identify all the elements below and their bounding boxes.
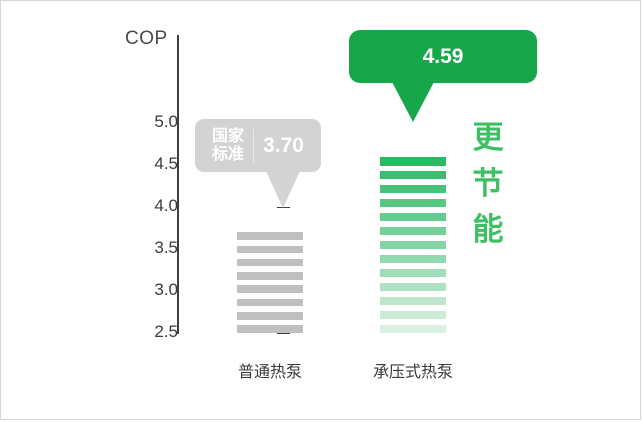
highlight-value: 4.59 (423, 45, 464, 69)
bar-segment (380, 241, 446, 249)
standard-callout-tail (266, 171, 300, 208)
more-efficient-note: 更 节 能 (467, 115, 509, 253)
x-label-pressurized-heat-pump: 承压式热泵 (344, 358, 482, 382)
x-label-ordinary-heat-pump: 普通热泵 (201, 358, 339, 382)
bar-segment (237, 285, 303, 293)
bar-segment (237, 232, 303, 240)
bar-segment (380, 325, 446, 333)
y-tick-label: 2.5 (134, 322, 178, 342)
y-tick-label: 4.5 (134, 154, 178, 174)
highlight-callout: 4.59 (349, 30, 537, 83)
bar-segment (237, 272, 303, 280)
bar-segment (380, 157, 446, 165)
y-axis-title: COP (125, 28, 168, 50)
bar-segment (380, 255, 446, 263)
national-standard-label: 国家 标准 (212, 128, 244, 164)
bar-segment (237, 246, 303, 254)
y-tick-label: 3.5 (134, 238, 178, 258)
y-tick-label: 5.0 (134, 112, 178, 132)
bar-segment (380, 311, 446, 319)
bar-segment (380, 171, 446, 179)
bar-pressurized-heat-pump (380, 157, 446, 333)
bar-segment (380, 185, 446, 193)
callout-divider (253, 129, 254, 163)
y-tick-label: 3.0 (134, 280, 178, 300)
bar-segment (380, 227, 446, 235)
y-tick-mark (277, 333, 290, 334)
bar-ordinary-heat-pump (237, 232, 303, 333)
national-standard-value: 3.70 (263, 134, 304, 158)
bar-segment (380, 213, 446, 221)
y-tick-label: 4.0 (134, 196, 178, 216)
bar-segment (380, 297, 446, 305)
bar-segment (237, 259, 303, 267)
national-standard-callout: 国家 标准 3.70 (195, 119, 321, 172)
chart-canvas: COP 5.04.54.03.53.02.5 普通热泵 承压式热泵 国家 标准 … (0, 0, 641, 420)
bar-segment (237, 325, 303, 333)
highlight-callout-tail (392, 82, 434, 122)
bar-segment (380, 269, 446, 277)
bar-segment (380, 283, 446, 291)
bar-segment (237, 312, 303, 320)
bar-segment (380, 199, 446, 207)
bar-segment (237, 299, 303, 307)
